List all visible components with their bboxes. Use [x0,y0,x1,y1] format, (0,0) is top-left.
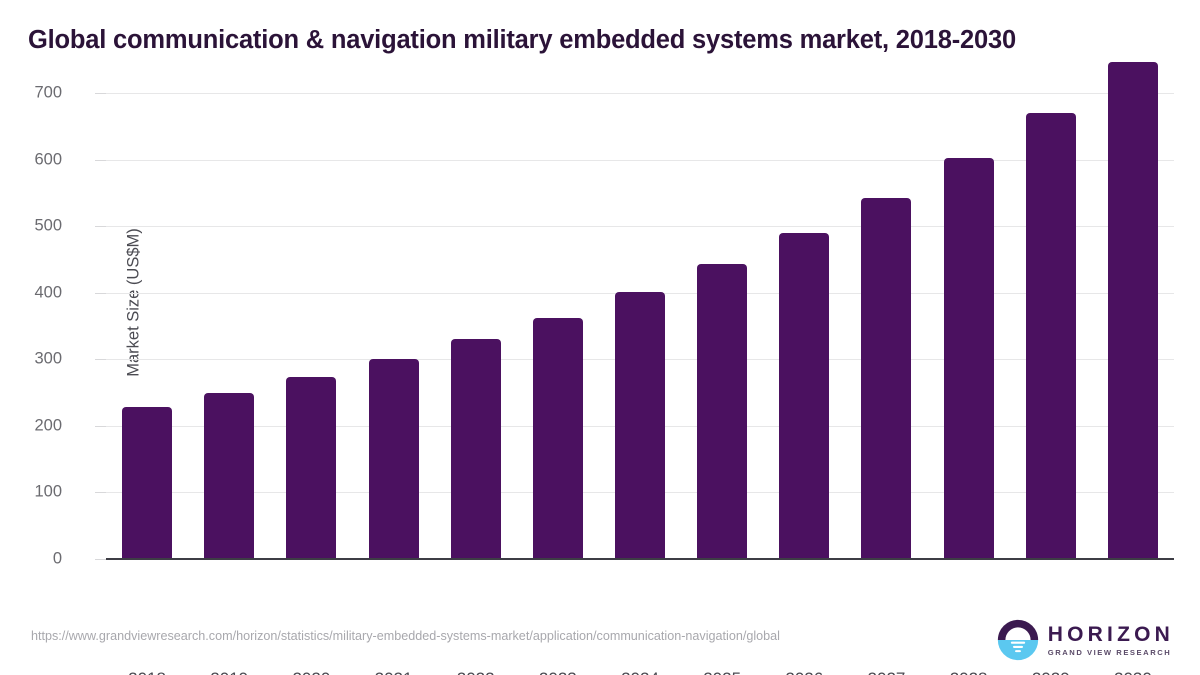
bar-2026[interactable] [779,233,829,559]
y-axis-tick-label: 300 [0,350,62,369]
y-axis-tick-mark [95,559,106,560]
x-axis-tick-label-2024: 2024 [621,669,659,675]
y-axis-tick-label: 500 [0,217,62,236]
x-axis-tick-label-2026: 2026 [785,669,823,675]
x-axis-line [106,558,1174,560]
bar-2024[interactable] [615,292,665,559]
logo-wordmark: HORIZON [1048,624,1174,645]
gridline [106,160,1174,161]
x-axis-tick-label-2025: 2025 [703,669,741,675]
bar-2029[interactable] [1026,113,1076,559]
source-url-line1: https://www.grandviewresearch.com/horizo… [31,629,756,643]
bar-2027[interactable] [861,198,911,559]
y-axis-tick-label: 400 [0,283,62,302]
bar-2030[interactable] [1108,62,1158,559]
y-axis-tick-mark [95,359,106,360]
bar-2018[interactable] [122,407,172,559]
x-axis-tick-label-2030: 2030 [1114,669,1152,675]
x-axis-tick-label-2019: 2019 [210,669,248,675]
x-axis-tick-label-2021: 2021 [375,669,413,675]
chart-page: Global communication & navigation milita… [0,0,1200,675]
y-axis-tick-label: 100 [0,483,62,502]
page-title: Global communication & navigation milita… [28,26,1168,55]
bar-2019[interactable] [204,393,254,559]
x-axis-tick-label-2022: 2022 [457,669,495,675]
x-axis-tick-label-2020: 2020 [292,669,330,675]
y-axis-tick-mark [95,492,106,493]
bar-2028[interactable] [944,158,994,559]
logo-tagline: GRAND VIEW RESEARCH [1048,649,1174,657]
x-axis-tick-label-2018: 2018 [128,669,166,675]
y-axis-tick-label: 200 [0,416,62,435]
bar-2020[interactable] [286,377,336,559]
gridline [106,226,1174,227]
x-axis-tick-label-2027: 2027 [868,669,906,675]
bar-2022[interactable] [451,339,501,559]
bar-2023[interactable] [533,318,583,559]
y-axis-tick-label: 700 [0,84,62,103]
y-axis-tick-mark [95,160,106,161]
y-axis-tick-mark [95,226,106,227]
gridline [106,93,1174,94]
y-axis-tick-mark [95,293,106,294]
bar-2025[interactable] [697,264,747,559]
y-axis-tick-label: 0 [0,550,62,569]
horizon-logo-icon [997,619,1039,661]
plot-area: Market Size (US$M) 010020030040050060070… [106,93,1174,559]
source-url-line2: obal [756,629,780,643]
x-axis-tick-label-2023: 2023 [539,669,577,675]
horizon-logo-text: HORIZON GRAND VIEW RESEARCH [1048,624,1174,657]
x-axis-tick-label-2029: 2029 [1032,669,1070,675]
horizon-logo: HORIZON GRAND VIEW RESEARCH [997,617,1174,663]
source-url: https://www.grandviewresearch.com/horizo… [31,628,943,644]
bar-2021[interactable] [369,359,419,559]
y-axis-tick-label: 600 [0,150,62,169]
y-axis-tick-mark [95,426,106,427]
y-axis-tick-mark [95,93,106,94]
x-axis-tick-label-2028: 2028 [950,669,988,675]
